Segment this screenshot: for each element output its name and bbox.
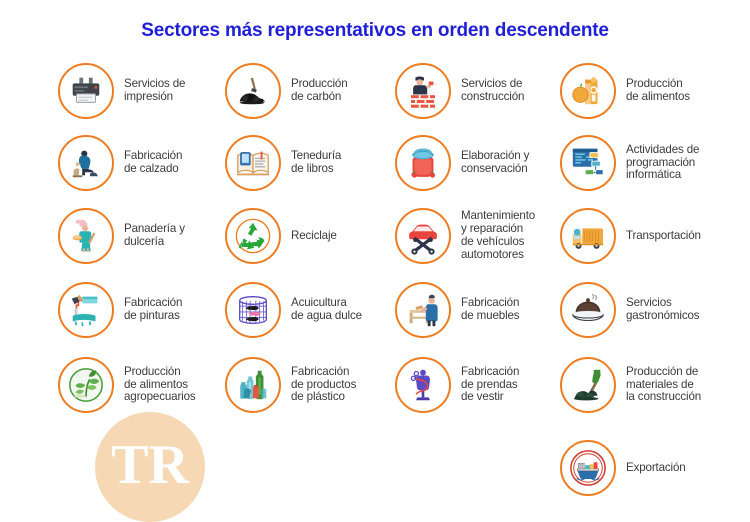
sector-label-line: informática bbox=[626, 169, 699, 182]
sector-item[interactable]: Acuiculturade agua dulce bbox=[225, 282, 362, 338]
shovel-gravel-icon bbox=[560, 357, 616, 413]
sector-label-line: agropecuarios bbox=[124, 391, 196, 404]
sector-label: Panadería ydulcería bbox=[124, 223, 185, 249]
sector-item[interactable]: Actividades deprogramacióninformática bbox=[560, 135, 699, 191]
sector-label: Exportación bbox=[626, 462, 686, 475]
sector-item[interactable]: Producción demateriales dela construcció… bbox=[560, 357, 701, 413]
sector-label: Actividades deprogramacióninformática bbox=[626, 144, 699, 182]
sector-label: Mantenimientoy reparaciónde vehículosaut… bbox=[461, 210, 535, 261]
sector-label-line: de agua dulce bbox=[291, 310, 362, 323]
sector-label-line: Producción bbox=[124, 366, 196, 379]
printer-icon bbox=[58, 63, 114, 119]
sector-label-line: de vehículos bbox=[461, 236, 535, 249]
sector-item[interactable]: Fabricaciónde pinturas bbox=[58, 282, 182, 338]
dress-form-icon bbox=[395, 357, 451, 413]
sector-label: Producciónde alimentos bbox=[626, 78, 690, 104]
sector-label-line: Actividades de bbox=[626, 144, 699, 157]
sector-item[interactable]: Reciclaje bbox=[225, 208, 337, 264]
sector-label: Teneduríade libros bbox=[291, 150, 341, 176]
sector-item[interactable]: Fabricaciónde muebles bbox=[395, 282, 519, 338]
sector-item[interactable]: Panadería ydulcería bbox=[58, 208, 185, 264]
sector-label-line: Fabricación bbox=[291, 366, 356, 379]
sector-item[interactable]: Servicios deimpresión bbox=[58, 63, 185, 119]
sector-label-line: gastronómicos bbox=[626, 310, 699, 323]
car-wrench-icon bbox=[395, 208, 451, 264]
sector-item[interactable]: Mantenimientoy reparaciónde vehículosaut… bbox=[395, 208, 535, 264]
sector-item[interactable]: Producciónde alimentos bbox=[560, 63, 690, 119]
sector-item[interactable]: Producciónde carbón bbox=[225, 63, 348, 119]
sector-label: Fabricaciónde calzado bbox=[124, 150, 182, 176]
sector-label: Producción demateriales dela construcció… bbox=[626, 366, 701, 404]
sector-label: Acuiculturade agua dulce bbox=[291, 297, 362, 323]
sector-label-line: de carbón bbox=[291, 91, 348, 104]
sector-label: Elaboración yconservación bbox=[461, 150, 529, 176]
sector-label-line: impresión bbox=[124, 91, 185, 104]
sector-label-line: de muebles bbox=[461, 310, 519, 323]
sector-label-line: de vestir bbox=[461, 391, 519, 404]
sector-label: Producciónde alimentosagropecuarios bbox=[124, 366, 196, 404]
orange-milk-icon bbox=[560, 63, 616, 119]
cargo-ship-icon bbox=[560, 440, 616, 496]
sector-label-line: de plástico bbox=[291, 391, 356, 404]
sector-item[interactable]: Fabricaciónde prendasde vestir bbox=[395, 357, 519, 413]
sector-label-line: de libros bbox=[291, 163, 341, 176]
sector-item[interactable]: Servicios deconstrucción bbox=[395, 63, 524, 119]
food-cloche-icon bbox=[560, 282, 616, 338]
sector-item[interactable]: Elaboración yconservación bbox=[395, 135, 529, 191]
sector-label: Fabricaciónde prendasde vestir bbox=[461, 366, 519, 404]
sector-label-line: la construcción bbox=[626, 391, 701, 404]
baker-icon bbox=[58, 208, 114, 264]
delivery-truck-icon bbox=[560, 208, 616, 264]
sector-item[interactable]: Teneduríade libros bbox=[225, 135, 341, 191]
sector-label: Transportación bbox=[626, 230, 701, 243]
sector-label: Fabricaciónde pinturas bbox=[124, 297, 182, 323]
sector-item[interactable]: Serviciosgastronómicos bbox=[560, 282, 699, 338]
sector-item[interactable]: Fabricaciónde calzado bbox=[58, 135, 182, 191]
paint-roller-icon bbox=[58, 282, 114, 338]
code-screen-icon bbox=[560, 135, 616, 191]
sector-label-line: conservación bbox=[461, 163, 529, 176]
sector-label-line: dulcería bbox=[124, 236, 185, 249]
carpenter-icon bbox=[395, 282, 451, 338]
sector-item[interactable]: Exportación bbox=[560, 440, 686, 496]
open-book-icon bbox=[225, 135, 281, 191]
sector-label: Serviciosgastronómicos bbox=[626, 297, 699, 323]
sector-label: Fabricaciónde muebles bbox=[461, 297, 519, 323]
preserve-jar-icon bbox=[395, 135, 451, 191]
fish-tank-icon bbox=[225, 282, 281, 338]
sector-label-line: Reciclaje bbox=[291, 230, 337, 243]
sector-label-line: Fabricación bbox=[461, 366, 519, 379]
sector-label-line: construcción bbox=[461, 91, 524, 104]
sector-label-line: Transportación bbox=[626, 230, 701, 243]
sector-label: Servicios deimpresión bbox=[124, 78, 185, 104]
coal-pile-icon bbox=[225, 63, 281, 119]
bricklayer-icon bbox=[395, 63, 451, 119]
sector-label-line: de calzado bbox=[124, 163, 182, 176]
sectors-grid: Servicios deimpresiónFabricaciónde calza… bbox=[0, 0, 750, 500]
sector-label: Servicios deconstrucción bbox=[461, 78, 524, 104]
sector-label: Fabricaciónde productosde plástico bbox=[291, 366, 356, 404]
sector-label-line: de alimentos bbox=[626, 91, 690, 104]
sector-label-line: Exportación bbox=[626, 462, 686, 475]
plastic-bottles-icon bbox=[225, 357, 281, 413]
shoemaker-icon bbox=[58, 135, 114, 191]
sector-item[interactable]: Producciónde alimentosagropecuarios bbox=[58, 357, 196, 413]
plant-leaf-icon bbox=[58, 357, 114, 413]
sector-item[interactable]: Transportación bbox=[560, 208, 701, 264]
sector-label-line: automotores bbox=[461, 249, 535, 262]
sector-label: Reciclaje bbox=[291, 230, 337, 243]
recycle-icon bbox=[225, 208, 281, 264]
sector-label: Producciónde carbón bbox=[291, 78, 348, 104]
sector-label-line: de pinturas bbox=[124, 310, 182, 323]
sector-item[interactable]: Fabricaciónde productosde plástico bbox=[225, 357, 356, 413]
sector-label-line: Producción de bbox=[626, 366, 701, 379]
